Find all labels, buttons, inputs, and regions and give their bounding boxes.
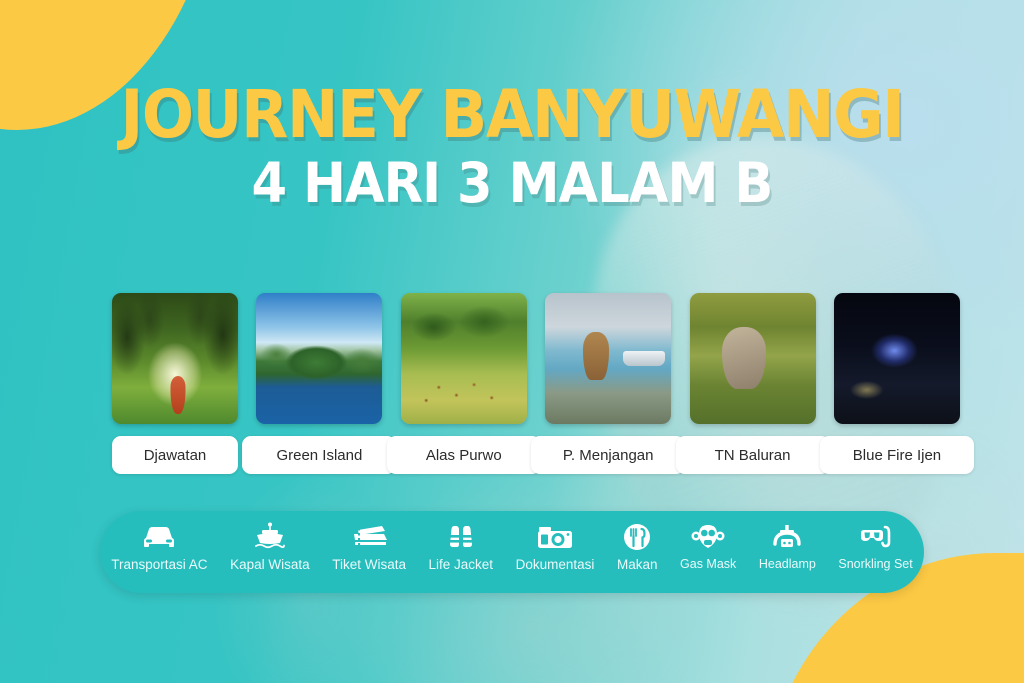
page-subtitle: 4 HARI 3 MALAM B — [36, 156, 988, 211]
destination-label: Blue Fire Ijen — [820, 436, 974, 474]
ship-icon — [250, 522, 290, 552]
amenities-bar: Transportasi AC Kapal Wisata — [100, 511, 924, 593]
promo-poster: JOURNEY BANYUWANGI 4 HARI 3 MALAM B Djaw… — [0, 0, 1024, 683]
destination-card[interactable]: Alas Purwo — [401, 293, 527, 474]
amenity-item-gas-mask: Gas Mask — [669, 511, 748, 571]
amenity-item-makan: Makan — [606, 511, 669, 572]
amenity-label: Snorkling Set — [838, 557, 912, 571]
destination-label: Djawatan — [112, 436, 238, 474]
djawatan-forest-photo — [112, 293, 238, 424]
blue-fire-ijen-photo — [834, 293, 960, 424]
amenity-label: Gas Mask — [680, 557, 736, 571]
destination-label: TN Baluran — [676, 436, 830, 474]
camera-icon — [534, 522, 576, 552]
menjangan-deer-boat-photo — [545, 293, 671, 424]
destination-card[interactable]: TN Baluran — [690, 293, 816, 474]
title-block: JOURNEY BANYUWANGI 4 HARI 3 MALAM B — [0, 82, 1024, 211]
amenity-item-snorkling-set: Snorkling Set — [827, 511, 924, 571]
amenity-item-transportasi-ac: Transportasi AC — [100, 511, 219, 572]
amenity-item-dokumentasi: Dokumentasi — [504, 511, 605, 572]
destination-label: Green Island — [242, 436, 396, 474]
baluran-deer-photo — [690, 293, 816, 424]
destination-card[interactable]: Blue Fire Ijen — [834, 293, 960, 474]
cutlery-icon — [620, 522, 654, 552]
headlamp-icon — [767, 522, 807, 552]
destination-card[interactable]: Green Island — [256, 293, 382, 474]
destination-label: P. Menjangan — [531, 436, 685, 474]
amenity-item-kapal-wisata: Kapal Wisata — [219, 511, 321, 572]
page-title: JOURNEY BANYUWANGI — [36, 82, 988, 148]
destination-card[interactable]: Djawatan — [112, 293, 238, 474]
amenity-label: Kapal Wisata — [230, 557, 310, 572]
amenity-item-life-jacket: Life Jacket — [417, 511, 504, 572]
green-island-coast-photo — [256, 293, 382, 424]
amenity-label: Tiket Wisata — [332, 557, 406, 572]
car-icon — [139, 522, 179, 552]
amenity-label: Transportasi AC — [111, 557, 207, 572]
amenity-label: Dokumentasi — [516, 557, 595, 572]
alas-purwo-savanna-photo — [401, 293, 527, 424]
amenity-item-tiket-wisata: Tiket Wisata — [321, 511, 417, 572]
amenity-label: Life Jacket — [429, 557, 494, 572]
amenity-label: Headlamp — [759, 557, 816, 571]
destination-card[interactable]: P. Menjangan — [545, 293, 671, 474]
amenity-item-headlamp: Headlamp — [748, 511, 828, 571]
gas-mask-icon — [688, 522, 728, 552]
snorkel-mask-icon — [855, 522, 897, 552]
destination-label: Alas Purwo — [387, 436, 541, 474]
ticket-icon — [348, 522, 390, 552]
amenity-label: Makan — [617, 557, 658, 572]
life-jacket-icon — [443, 522, 479, 552]
destination-card-list: Djawatan Green Island Alas Purwo P. Menj… — [112, 293, 960, 474]
